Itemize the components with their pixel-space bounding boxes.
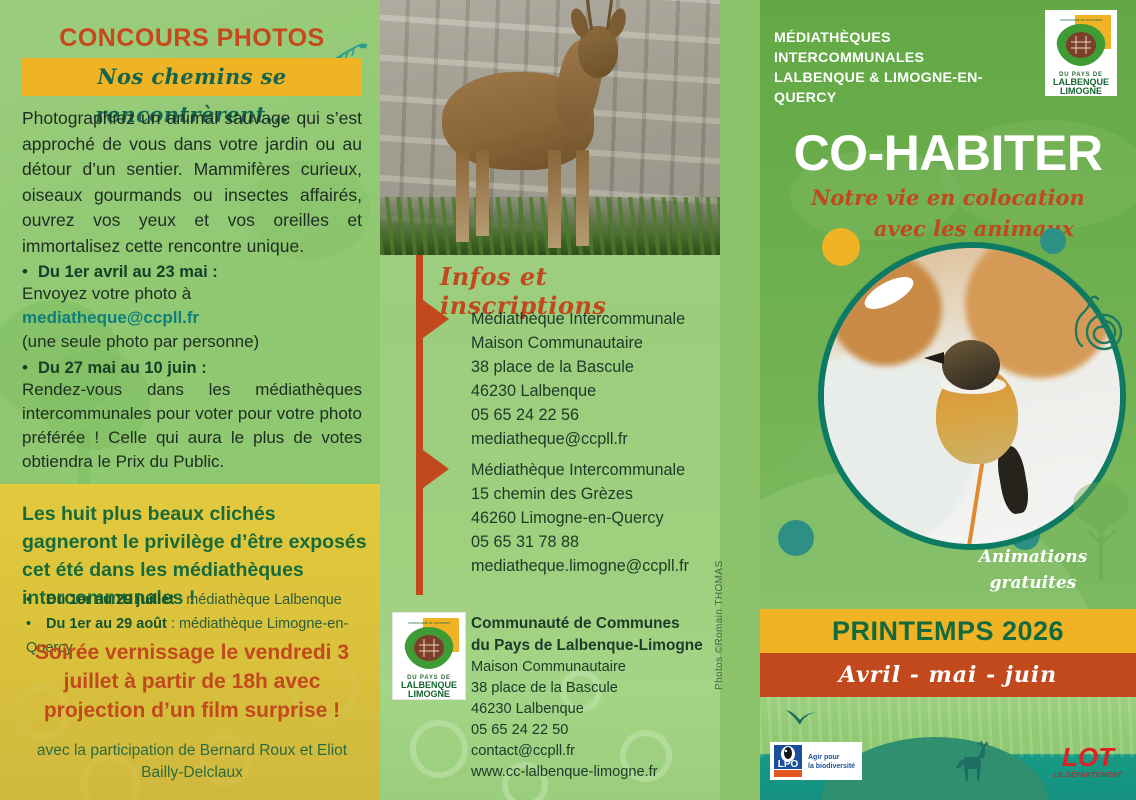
subtitle-line-2: avec les animaux <box>760 213 1136 244</box>
lpo-logo-mark: LPO Agir pour la biodiversité <box>770 742 862 780</box>
season-label: PRINTEMPS 2026 <box>760 609 1136 653</box>
cc-address-line: Maison Communautaire <box>471 657 711 678</box>
deer-leg <box>456 150 469 242</box>
flying-bird-icon <box>784 707 818 727</box>
submit-instruction: Envoyez votre photo à mediatheque@ccpll.… <box>22 282 362 330</box>
expo-place-1: : médiathèque Lalbenque <box>174 592 342 608</box>
expo-date-2: Du 1er au 29 août <box>46 616 167 632</box>
contact-line: Maison Communautaire <box>471 331 685 355</box>
lpo-acronym: LPO <box>778 759 799 770</box>
cc-website[interactable]: www.cc-lalbenque-limogne.fr <box>471 762 711 783</box>
lot-logo: LOT LE DÉPARTEMENT <box>1048 742 1128 782</box>
footer-scene: LPO Agir pour la biodiversité LOT LE DÉP… <box>760 697 1136 800</box>
bullet-marker: • <box>22 262 38 282</box>
logo-top-text: communauté de communes <box>1060 18 1102 22</box>
logo-line-3: LIMOGNE <box>1060 86 1102 96</box>
one-photo-note: (une seule photo par personne) <box>22 330 362 354</box>
snail-icon <box>1068 292 1126 356</box>
deadline-block-1: •Du 1er avril au 23 mai : Envoyez votre … <box>22 262 362 354</box>
deer-silhouette-icon <box>950 739 990 783</box>
contest-email-link[interactable]: mediatheque@ccpll.fr <box>22 308 199 327</box>
deadline-2-heading: Du 27 mai au 10 juin : <box>38 359 207 377</box>
contact-line: Médiathèque Intercommunale <box>471 458 689 482</box>
header-line-1: MÉDIATHÈQUES INTERCOMMUNALES <box>774 28 1044 68</box>
deer-leg <box>576 150 589 246</box>
season-band: PRINTEMPS 2026 <box>760 609 1136 653</box>
cc-address-line: 38 place de la Bascule <box>471 678 711 699</box>
contact-line: 15 chemin des Grèzes <box>471 482 689 506</box>
contact-line: 38 place de la Bascule <box>471 355 685 379</box>
left-panel: CONCOURS PHOTOS Nos chemins se rencontrè… <box>0 0 380 800</box>
contact-line: Médiathèque Intercommunale <box>471 307 685 331</box>
lot-name: LOT <box>1062 742 1116 772</box>
lot-tag: LE DÉPARTEMENT <box>1054 770 1123 779</box>
contact-line: 46230 Lalbenque <box>471 379 685 403</box>
months-label: Avril - mai - juin <box>760 653 1136 697</box>
contact-email[interactable]: mediatheque.limogne@ccpll.fr <box>471 554 689 578</box>
ccpll-address-block: Communauté de Communes du Pays de Lalben… <box>471 613 711 783</box>
intro-paragraph: Photographiez un animal sauvage qui s’es… <box>22 106 362 259</box>
orange-vertical-rule <box>416 255 423 595</box>
page-subtitle: Notre vie en colocation avec les animaux <box>760 182 1136 244</box>
contact-block-limogne: Médiathèque Intercommunale 15 chemin des… <box>471 458 689 578</box>
cc-name-line-1: Communauté de Communes <box>471 613 711 635</box>
arrow-marker-2 <box>423 450 449 488</box>
brochure-page: CONCOURS PHOTOS Nos chemins se rencontrè… <box>0 0 1136 800</box>
contact-phone: 05 65 31 78 88 <box>471 530 689 554</box>
logo-line-3: LIMOGNE <box>408 689 450 699</box>
lot-logo-mark: LOT LE DÉPARTEMENT <box>1048 742 1128 782</box>
months-band: Avril - mai - juin <box>760 653 1136 697</box>
deer-photo <box>380 0 720 255</box>
teal-dot-decor <box>778 520 814 556</box>
lpo-tag-2: la biodiversité <box>808 763 855 770</box>
cc-phone: 05 65 24 22 50 <box>471 720 711 741</box>
mediatheques-header: MÉDIATHÈQUES INTERCOMMUNALES LALBENQUE &… <box>774 28 1044 108</box>
subtitle-line-1: Notre vie en colocation <box>811 185 1085 210</box>
header-line-2: LALBENQUE & LIMOGNE-EN-QUERCY <box>774 68 1044 108</box>
bullet-marker: • <box>26 588 46 612</box>
bird-head <box>942 340 1000 390</box>
bird-beak <box>924 352 944 364</box>
deadline-block-2: •Du 27 mai au 10 juin : Rendez-vous dans… <box>22 358 362 474</box>
cc-email[interactable]: contact@ccpll.fr <box>471 741 711 762</box>
contact-line: 46260 Limogne-en-Quercy <box>471 506 689 530</box>
vote-instruction: Rendez-vous dans les médiathèques interc… <box>22 378 362 474</box>
free-activities-note: Animations gratuites <box>940 544 1126 596</box>
deer-leg <box>476 150 489 236</box>
ccpll-logo: communauté de communes DU PAYS DE LALBEN… <box>392 612 466 700</box>
lpo-tag-1: Agir pour <box>808 754 840 761</box>
cc-address-line: 46230 Lalbenque <box>471 699 711 720</box>
lpo-logo: LPO Agir pour la biodiversité <box>770 742 862 780</box>
middle-panel: Infos et inscriptions Médiathèque Interc… <box>380 0 720 800</box>
vernissage-text: Soirée vernissage le vendredi 3 juillet … <box>14 638 370 725</box>
page-title: CO-HABITER <box>760 124 1136 182</box>
deer-leg <box>548 150 561 248</box>
ccpll-logo-header: communauté de communes DU PAYS DE LALBEN… <box>1045 10 1117 96</box>
contact-email[interactable]: mediatheque@ccpll.fr <box>471 427 685 451</box>
ccpll-logo-mark: communauté de communes DU PAYS DE LALBEN… <box>393 613 465 699</box>
logo-top-text: communauté de communes <box>408 621 450 625</box>
participation-credit: avec la participation de Bernard Roux et… <box>14 740 370 784</box>
submit-prefix: Envoyez votre photo à <box>22 284 191 303</box>
contact-phone: 05 65 24 22 56 <box>471 403 685 427</box>
contest-title: CONCOURS PHOTOS <box>22 24 362 53</box>
deadline-1-heading: Du 1er avril au 23 mai : <box>38 263 218 281</box>
contact-block-lalbenque: Médiathèque Intercommunale Maison Commun… <box>471 307 685 451</box>
ccpll-logo-mark: communauté de communes DU PAYS DE LALBEN… <box>1045 10 1117 96</box>
expo-date-1: Du 1er au 29 juillet <box>46 592 174 608</box>
flower-decor <box>410 720 468 778</box>
bullet-marker: • <box>26 612 46 636</box>
bullet-marker: • <box>22 358 38 378</box>
tagline-banner: Nos chemins se rencontrèrent... <box>22 58 362 96</box>
cc-name-line-2: du Pays de Lalbenque-Limogne <box>471 635 711 657</box>
list-item: •Du 1er au 29 juillet : médiathèque Lalb… <box>26 588 378 612</box>
photo-credit: Photos ©Romain THOMAS <box>714 560 725 690</box>
